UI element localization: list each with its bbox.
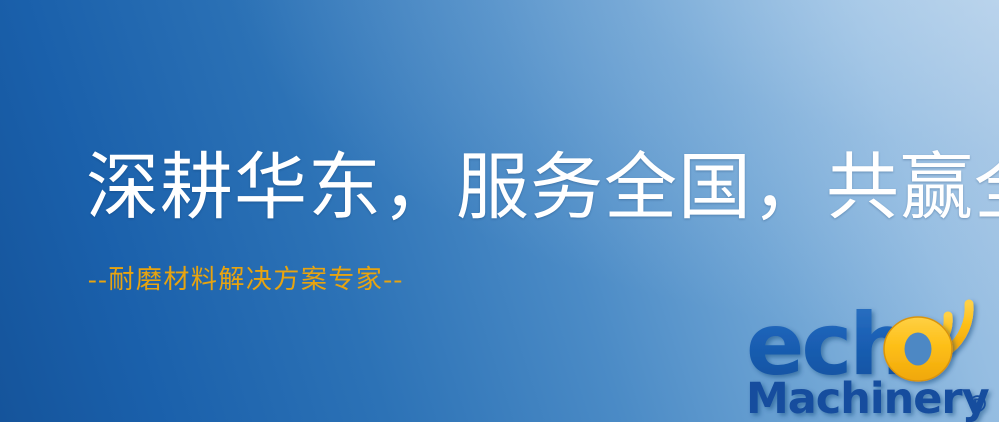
promo-banner: 深耕华东，服务全国，共赢全球 --耐磨材料解决方案专家-- — [0, 0, 999, 422]
logo-letter-o-gold — [884, 317, 952, 381]
registered-trademark-symbol: ® — [966, 392, 989, 418]
page-subtitle: --耐磨材料解决方案专家-- — [88, 264, 404, 295]
svg-text:Machinery: Machinery — [746, 374, 990, 422]
echo-machinery-logo[interactable]: ech Machinery ® — [742, 292, 999, 422]
page-title: 深耕华东，服务全国，共赢全球 — [86, 150, 999, 226]
logo-tagline-machinery: Machinery ® — [746, 374, 990, 422]
